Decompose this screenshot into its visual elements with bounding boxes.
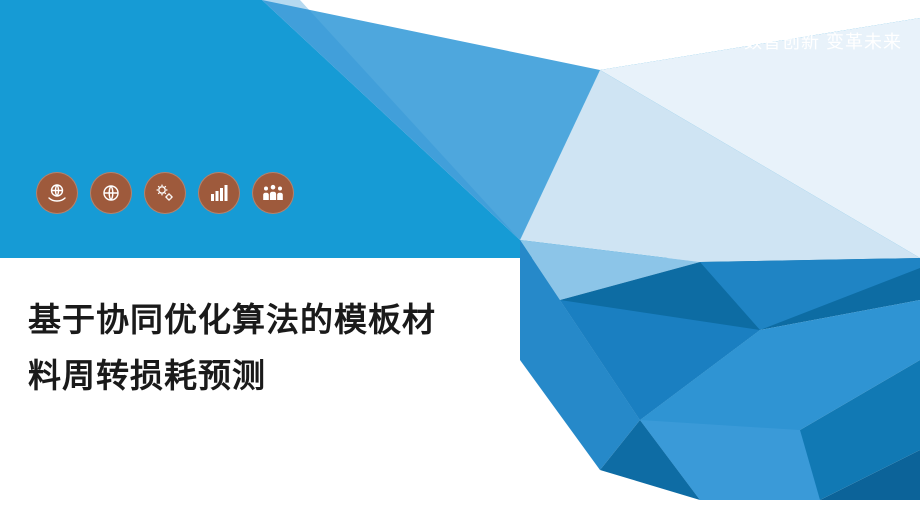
slide-canvas: 数智创新 变革未来 [0,0,920,518]
bar-chart-icon [198,172,240,214]
tagline-text: 数智创新 变革未来 [744,28,902,54]
title-line-1: 基于协同优化算法的模板材 [28,292,548,348]
globe-icon [90,172,132,214]
title-line-2: 料周转损耗预测 [28,348,548,404]
icon-row [36,172,294,214]
people-group-icon [252,172,294,214]
gears-icon [144,172,186,214]
polygon-artwork [0,0,920,518]
page-title: 基于协同优化算法的模板材 料周转损耗预测 [28,292,548,404]
globe-hand-icon [36,172,78,214]
